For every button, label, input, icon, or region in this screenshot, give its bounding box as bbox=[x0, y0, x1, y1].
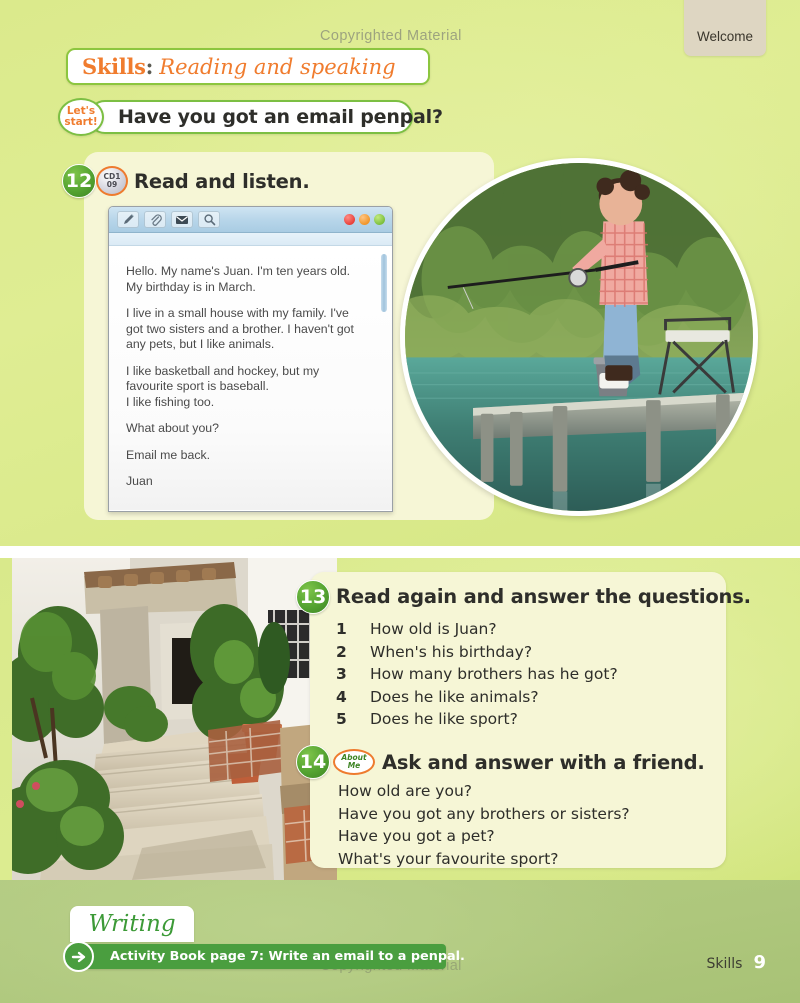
exercise-13-number-badge: 13 bbox=[296, 580, 330, 614]
lets-start-badge-line2: start! bbox=[64, 117, 97, 128]
exercise-14-title: Ask and answer with a friend. bbox=[382, 751, 705, 774]
list-item: What's your favourite sport? bbox=[338, 848, 630, 871]
question-number: 2 bbox=[336, 641, 370, 664]
email-subtoolbar bbox=[109, 233, 392, 246]
list-item: 5 Does he like sport? bbox=[336, 708, 618, 731]
question-number: 3 bbox=[336, 663, 370, 686]
email-message-body: Hello. My name's Juan. I'm ten years old… bbox=[109, 246, 392, 510]
question-text: Does he like animals? bbox=[370, 686, 539, 709]
question-number: 5 bbox=[336, 708, 370, 731]
list-item: 2 When's his birthday? bbox=[336, 641, 618, 664]
exercise-12-number-badge: 12 bbox=[62, 164, 96, 198]
question-text: How old is Juan? bbox=[370, 618, 497, 641]
textbook-page: Copyrighted Material Copyrighted Materia… bbox=[0, 0, 800, 1003]
photo-village-street bbox=[12, 558, 337, 880]
exercise-12-title: Read and listen. bbox=[134, 170, 310, 193]
cd-track-number: 09 bbox=[107, 181, 117, 190]
arrow-right-icon bbox=[63, 941, 94, 972]
activity-book-text: Activity Book page 7: Write an email to … bbox=[110, 949, 465, 964]
email-paragraph: I like basketball and hockey, but my fav… bbox=[126, 364, 366, 411]
copyright-watermark-top: Copyrighted Material bbox=[320, 28, 462, 44]
page-footer: Skills 9 bbox=[707, 952, 767, 973]
page-number: 9 bbox=[753, 952, 766, 973]
email-client-window: Hello. My name's Juan. I'm ten years old… bbox=[108, 206, 393, 512]
unit-tab-welcome[interactable]: Welcome bbox=[684, 0, 766, 56]
email-paragraph: Email me back. bbox=[126, 448, 366, 464]
list-item: 3 How many brothers has he got? bbox=[336, 663, 618, 686]
photo-boy-fishing bbox=[400, 158, 758, 516]
email-paragraph: I live in a small house with my family. … bbox=[126, 306, 366, 353]
unit-tab-label: Welcome bbox=[684, 29, 766, 44]
list-item: Have you got a pet? bbox=[338, 825, 630, 848]
lets-start-badge: Let's start! bbox=[58, 98, 104, 136]
question-text: When's his birthday? bbox=[370, 641, 532, 664]
about-me-icon: About Me bbox=[333, 749, 375, 775]
email-scrollbar-thumb[interactable] bbox=[381, 254, 387, 312]
skills-title-text: Skills: Reading and speaking bbox=[82, 54, 396, 80]
email-paragraph: What about you? bbox=[126, 421, 366, 437]
exercise-13-question-list: 1 How old is Juan? 2 When's his birthday… bbox=[336, 618, 618, 731]
question-number: 4 bbox=[336, 686, 370, 709]
list-item: Have you got any brothers or sisters? bbox=[338, 803, 630, 826]
skills-title-colon: : bbox=[146, 54, 154, 79]
window-controls bbox=[344, 214, 385, 225]
list-item: 1 How old is Juan? bbox=[336, 618, 618, 641]
pencil-icon[interactable] bbox=[117, 211, 139, 228]
skills-title-keyword: Skills bbox=[82, 54, 146, 79]
writing-label: Writing bbox=[88, 911, 175, 937]
list-item: 4 Does he like animals? bbox=[336, 686, 618, 709]
question-text: How many brothers has he got? bbox=[370, 663, 618, 686]
writing-section-tab: Writing bbox=[70, 906, 194, 942]
exercise-13-title: Read again and answer the questions. bbox=[336, 585, 751, 608]
close-button[interactable] bbox=[344, 214, 355, 225]
maximize-button[interactable] bbox=[374, 214, 385, 225]
exercise-14-number-badge: 14 bbox=[296, 745, 330, 779]
skills-title-subtitle: Reading and speaking bbox=[159, 55, 395, 79]
minimize-button[interactable] bbox=[359, 214, 370, 225]
email-toolbar bbox=[109, 207, 392, 233]
email-signature: Juan bbox=[126, 474, 366, 490]
about-me-line2: Me bbox=[348, 762, 361, 771]
search-icon[interactable] bbox=[198, 211, 220, 228]
exercise-14-prompt-list: How old are you? Have you got any brothe… bbox=[338, 780, 630, 870]
lets-start-bar: Have you got an email penpal? bbox=[88, 100, 413, 134]
paperclip-icon[interactable] bbox=[144, 211, 166, 228]
skills-title-bar: Skills: Reading and speaking bbox=[66, 48, 430, 85]
list-item: How old are you? bbox=[338, 780, 630, 803]
section-divider-gap bbox=[0, 546, 800, 558]
question-text: Does he like sport? bbox=[370, 708, 518, 731]
footer-section-label: Skills bbox=[707, 956, 743, 972]
question-number: 1 bbox=[336, 618, 370, 641]
cd-track-icon: CD1 09 bbox=[96, 166, 128, 196]
envelope-icon[interactable] bbox=[171, 211, 193, 228]
activity-book-bar[interactable]: Activity Book page 7: Write an email to … bbox=[70, 944, 446, 969]
email-paragraph: Hello. My name's Juan. I'm ten years old… bbox=[126, 264, 366, 295]
lets-start-question: Have you got an email penpal? bbox=[118, 106, 443, 128]
